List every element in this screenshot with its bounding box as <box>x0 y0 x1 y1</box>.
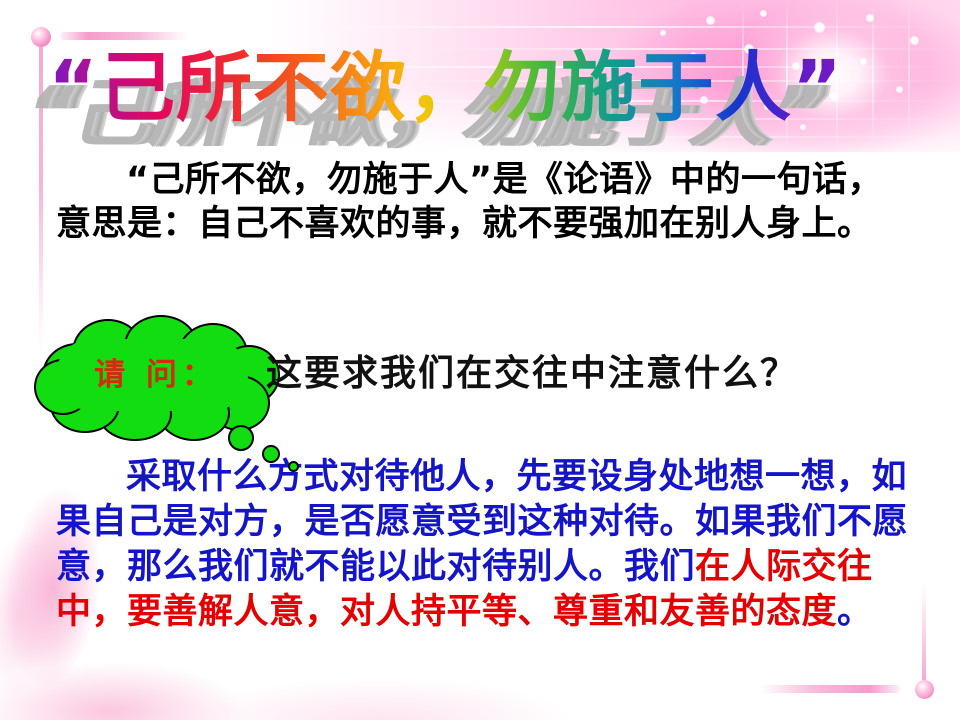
title-gradient-text: “己所不欲，勿施于人” <box>48 38 843 138</box>
presentation-slide: “己所不欲，勿施于人” “己所不欲，勿施于人” “己所不欲，勿施于人”是《论语》… <box>0 0 960 720</box>
sparkle-dot <box>910 36 919 45</box>
sparkle-dot <box>660 30 666 36</box>
closing-paragraph: 采取什么方式对待他人，先要设身处地想一想，如果自己是对方，是否愿意受到这种对待。… <box>56 455 916 635</box>
bottom-right-vertical-rule <box>922 580 926 680</box>
sparkle-dot <box>706 16 715 25</box>
bubble-tail-dot <box>228 425 254 451</box>
sparkle-dot <box>814 22 825 33</box>
light-streak <box>300 26 940 28</box>
bubble-tail-dot <box>262 445 280 463</box>
closing-period: 。 <box>837 592 873 632</box>
sparkle-dot <box>860 58 867 65</box>
bottom-right-bar-ornament <box>760 685 900 693</box>
question-text: 这要求我们在交往中注意什么？ <box>266 344 798 396</box>
intro-paragraph: “己所不欲，勿施于人”是《论语》中的一句话，意思是：自己不喜欢的事，就不要强加在… <box>56 158 912 246</box>
bubble-tail-dot <box>288 461 299 472</box>
thought-bubble: 请 问： <box>32 313 302 453</box>
light-ray <box>908 0 910 140</box>
sparkle-dot <box>760 10 767 17</box>
light-ray <box>872 0 874 148</box>
sparkle-dot <box>896 86 903 93</box>
bottom-right-sphere-ornament <box>915 680 934 699</box>
bubble-label: 请 问： <box>68 349 244 394</box>
sparkle-dot <box>866 14 874 22</box>
